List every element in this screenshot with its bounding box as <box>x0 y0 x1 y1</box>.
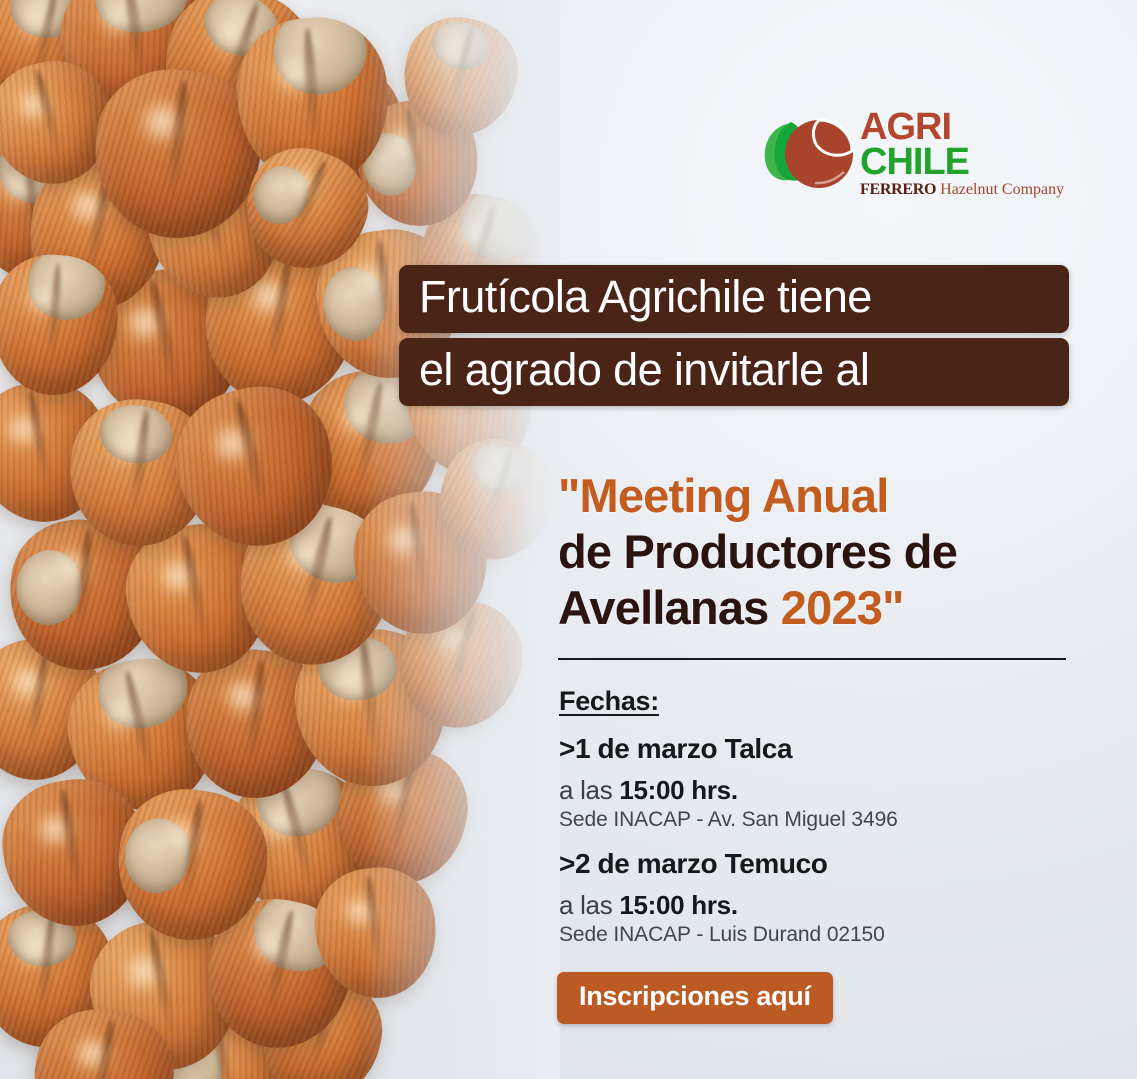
event-title: "Meeting Anual de Productores de Avellan… <box>558 468 1078 636</box>
event-title-year: 2023" <box>781 581 904 634</box>
hazelnut-photo <box>0 0 560 1079</box>
event-1-venue: Sede INACAP - Av. San Miguel 3496 <box>559 808 1079 832</box>
event-2-venue: Sede INACAP - Luis Durand 02150 <box>559 923 1079 947</box>
hazelnut-leaf-logo-icon <box>757 110 863 194</box>
event-1-time-value: 15:00 hrs. <box>619 775 737 805</box>
event-details: Fechas: >1 de marzo Talca a las 15:00 hr… <box>559 686 1079 963</box>
headline-line-1: Frutícola Agrichile tiene <box>399 265 1069 333</box>
logo-hazelnut-company-text: Hazelnut Company <box>940 181 1064 198</box>
registration-button[interactable]: Inscripciones aquí <box>557 972 833 1024</box>
event-1-time: a las 15:00 hrs. <box>559 775 1079 806</box>
event-title-part-2: de Productores de <box>558 525 957 578</box>
dates-heading: Fechas: <box>559 686 659 717</box>
event-2-time: a las 15:00 hrs. <box>559 890 1079 921</box>
event-1-date: >1 de marzo Talca <box>559 733 1079 765</box>
event-title-line-1: "Meeting Anual <box>558 468 1078 524</box>
title-divider <box>558 658 1066 660</box>
event-title-part-3: Avellanas <box>558 581 781 634</box>
headline-banners: Frutícola Agrichile tiene el agrado de i… <box>399 265 1069 406</box>
event-2-time-value: 15:00 hrs. <box>619 890 737 920</box>
event-2-time-prefix: a las <box>559 890 619 920</box>
hazelnut <box>108 780 275 949</box>
logo-wordmark: AGRI CHILE FERREROHazelnut Company <box>860 108 1075 199</box>
logo-ferrero-text: FERRERO <box>860 181 936 198</box>
hazelnut <box>0 251 122 399</box>
agrichile-logo[interactable]: AGRI CHILE FERREROHazelnut Company <box>757 108 1069 196</box>
headline-line-2: el agrado de invitarle al <box>399 338 1069 406</box>
event-2-date: >2 de marzo Temuco <box>559 848 1079 880</box>
logo-chile-text: CHILE <box>860 144 1075 180</box>
event-title-part-1: "Meeting Anual <box>558 469 889 522</box>
logo-agri-text: AGRI <box>860 110 1075 144</box>
event-title-line-2: de Productores de <box>558 524 1078 580</box>
logo-tagline: FERREROHazelnut Company <box>860 181 1075 199</box>
event-1-time-prefix: a las <box>559 775 619 805</box>
event-title-line-3: Avellanas 2023" <box>558 580 1078 636</box>
hazelnut <box>309 861 444 1005</box>
poster-canvas: AGRI CHILE FERREROHazelnut Company Frutí… <box>0 0 1137 1079</box>
